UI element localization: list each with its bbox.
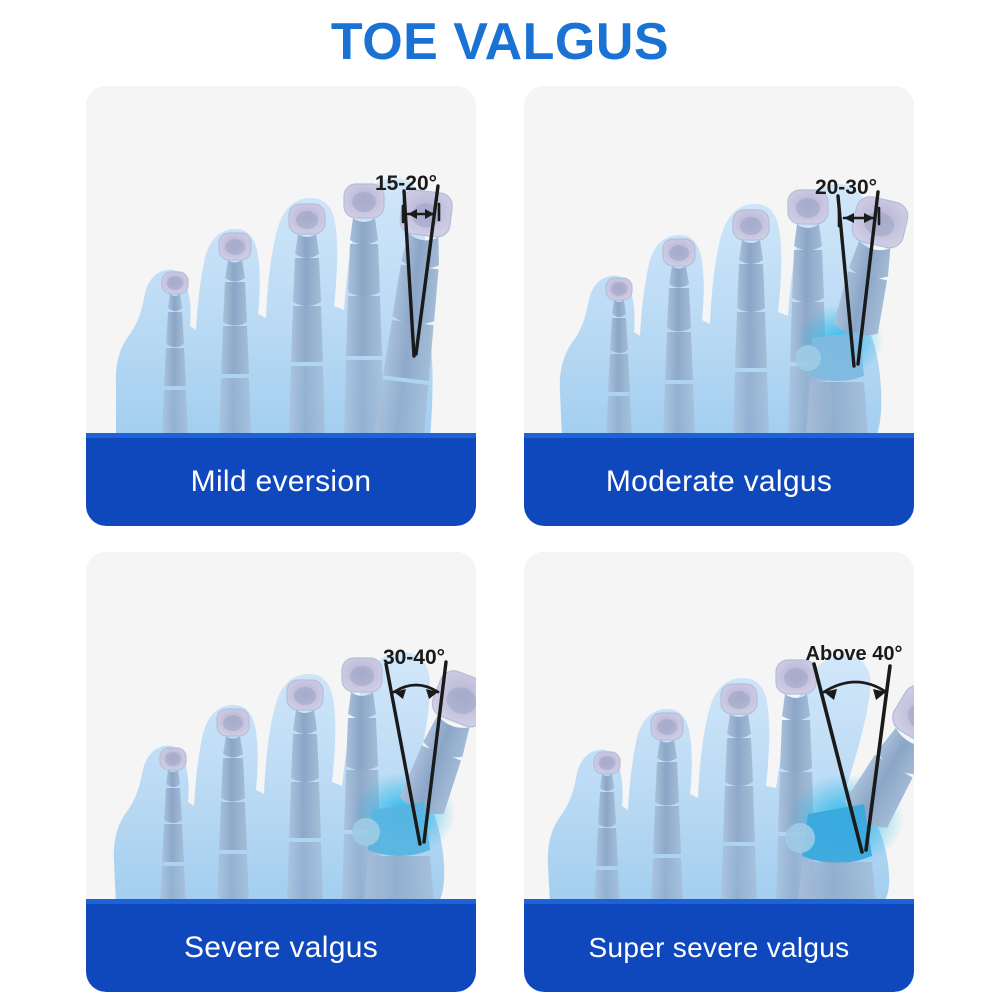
angle-label-mild: 15-20° bbox=[375, 172, 437, 195]
infographic-page: TOE VALGUS bbox=[0, 0, 1000, 1000]
angle-label-super-severe: Above 40° bbox=[806, 643, 903, 665]
xray-figure-severe: 30-40° bbox=[86, 552, 476, 904]
angle-label-moderate: 20-30° bbox=[815, 176, 877, 199]
panel-mild[interactable]: 15-20° Mild eversion bbox=[86, 86, 476, 526]
panel-grid: 15-20° Mild eversion bbox=[86, 86, 914, 986]
panel-super-severe[interactable]: Above 40° Super severe valgus bbox=[524, 552, 914, 992]
xray-figure-super-severe: Above 40° bbox=[524, 552, 914, 904]
panel-caption-severe[interactable]: Severe valgus bbox=[86, 904, 476, 992]
page-title: TOE VALGUS bbox=[0, 10, 1000, 74]
xray-figure-moderate: 20-30° bbox=[524, 86, 914, 438]
panel-caption-super-severe[interactable]: Super severe valgus bbox=[524, 904, 914, 992]
panel-moderate[interactable]: 20-30° Moderate valgus bbox=[524, 86, 914, 526]
panel-caption-mild[interactable]: Mild eversion bbox=[86, 438, 476, 526]
panel-caption-moderate[interactable]: Moderate valgus bbox=[524, 438, 914, 526]
xray-figure-mild: 15-20° bbox=[86, 86, 476, 438]
angle-label-severe: 30-40° bbox=[383, 646, 445, 669]
panel-severe[interactable]: 30-40° Severe valgus bbox=[86, 552, 476, 992]
